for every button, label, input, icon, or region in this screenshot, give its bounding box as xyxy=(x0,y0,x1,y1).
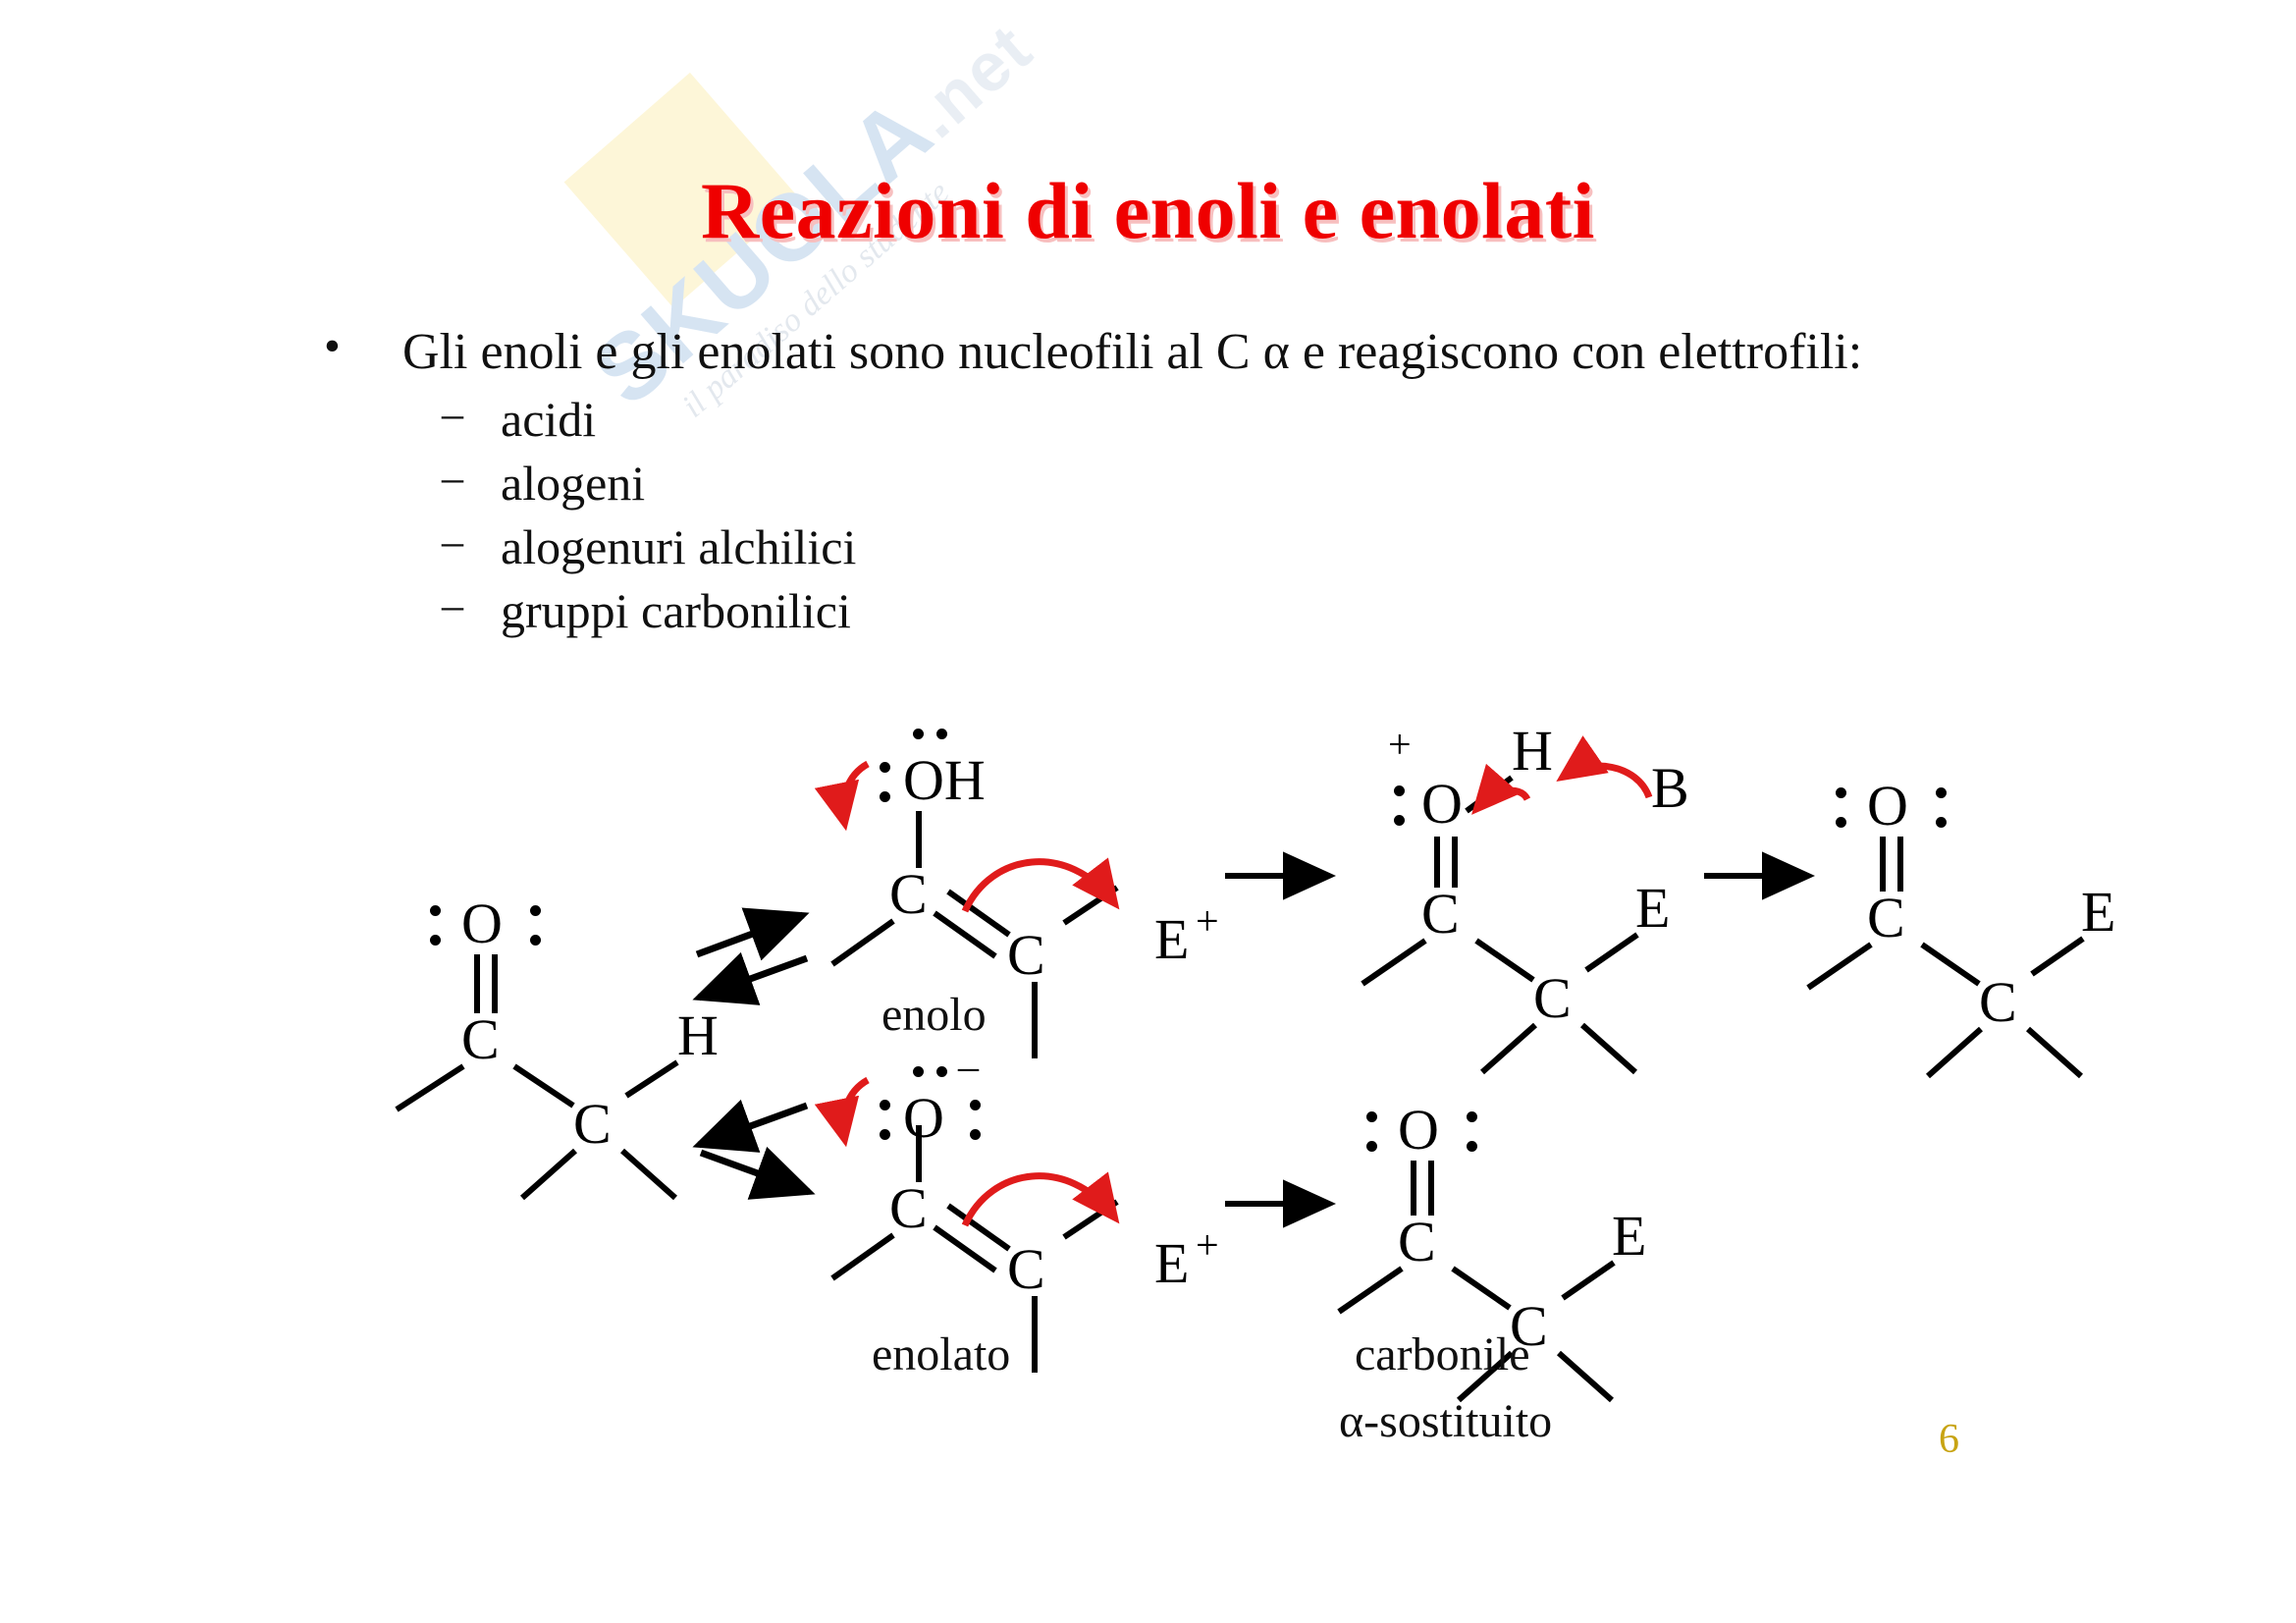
ketone-lone-pair-dot xyxy=(430,935,441,946)
product-bottom-lone-pair-dot xyxy=(1467,1141,1477,1152)
product-bottom-oxygen-atom: O xyxy=(1398,1102,1439,1159)
ketone-lone-pair-dot xyxy=(530,935,541,946)
enol-electrophile-label: E xyxy=(1154,911,1189,968)
product-top-lone-pair-dot xyxy=(1836,817,1846,828)
oxocarbenium-lone-pair-dot xyxy=(1394,785,1405,796)
oxocarbenium-electrophile-atom: E xyxy=(1635,880,1670,937)
enol-carbon-1-atom: C xyxy=(889,866,928,923)
enol-lone-pair-dot xyxy=(913,729,924,739)
product-bottom-lone-pair-dot xyxy=(1467,1111,1477,1122)
enol-lone-pair-dot xyxy=(936,729,947,739)
oxocarbenium-lone-pair-dot xyxy=(1394,815,1405,826)
product-top-bonds xyxy=(1808,837,2083,1076)
oxocarbenium-carbonyl-carbon-atom: C xyxy=(1421,886,1460,943)
equilibrium-arrows-top xyxy=(697,915,807,998)
enolate-lone-pair-dot xyxy=(936,1066,947,1077)
enolate-carbon-1-atom: C xyxy=(889,1180,928,1237)
ketone-bonds xyxy=(397,954,677,1198)
enol-electrophile-charge: + xyxy=(1196,901,1219,943)
enolate-negative-charge: – xyxy=(958,1047,979,1088)
product-top-oxygen-atom: O xyxy=(1867,778,1908,835)
enolate-lone-pair-dot xyxy=(880,1129,890,1140)
ketone-hydrogen-atom: H xyxy=(677,1007,719,1064)
enol-lone-pair-dot xyxy=(880,791,890,802)
oxocarbenium-oxygen-atom: O xyxy=(1421,776,1463,833)
enol-hydroxyl-group: OH xyxy=(903,752,986,809)
product-bottom-lone-pair-dot xyxy=(1366,1111,1377,1122)
enolate-lone-pair-dot xyxy=(913,1066,924,1077)
ketone-lone-pair-dot xyxy=(430,905,441,916)
ketone-carbonyl-carbon-atom: C xyxy=(461,1011,500,1068)
reaction-scheme-vectors xyxy=(0,0,2296,1623)
product-top-carbonyl-carbon-atom: C xyxy=(1867,890,1905,947)
oxocarbenium-hydrogen-atom: H xyxy=(1512,723,1553,780)
enolate-carbon-2-atom: C xyxy=(1007,1241,1045,1298)
enolate-lone-pair-dot xyxy=(970,1100,981,1110)
enolate-oxygen-atom: O xyxy=(903,1090,944,1147)
slide-canvas: SKUOLA.net il paradiso dello studente Re… xyxy=(0,0,2296,1623)
enolate-caption: enolato xyxy=(872,1327,1010,1381)
product-bottom-lone-pair-dot xyxy=(1366,1141,1377,1152)
product-bottom-caption-line2: α-sostituito xyxy=(1339,1394,1552,1448)
product-top-lone-pair-dot xyxy=(1836,787,1846,798)
enolate-lone-pair-dot xyxy=(880,1100,890,1110)
product-bottom-caption-line1: carbonile xyxy=(1355,1327,1530,1381)
product-top-lone-pair-dot xyxy=(1936,817,1947,828)
product-top-alpha-carbon-atom: C xyxy=(1979,974,2017,1031)
ketone-lone-pair-dot xyxy=(530,905,541,916)
oxocarbenium-curly-arrows xyxy=(1478,766,1649,807)
page-number: 6 xyxy=(1939,1416,1959,1463)
ketone-oxygen-atom: O xyxy=(461,895,503,952)
product-bottom-carbonyl-carbon-atom: C xyxy=(1398,1214,1436,1271)
enolate-lone-pair-dot xyxy=(970,1129,981,1140)
enol-lone-pair-dot xyxy=(880,762,890,773)
product-bottom-electrophile-atom: E xyxy=(1612,1208,1646,1265)
oxocarbenium-positive-charge: + xyxy=(1388,725,1412,766)
base-label: B xyxy=(1651,760,1689,817)
reaction-scheme: O C C H OH C C E + enolo + O H B C C E O xyxy=(0,0,2296,1623)
enolate-electrophile-charge: + xyxy=(1196,1225,1219,1267)
product-top-lone-pair-dot xyxy=(1936,787,1947,798)
equilibrium-arrows-bottom xyxy=(699,1106,809,1192)
enolate-electrophile-label: E xyxy=(1154,1235,1189,1292)
ketone-alpha-carbon-atom: C xyxy=(573,1096,612,1153)
enol-caption: enolo xyxy=(881,988,987,1042)
oxocarbenium-alpha-carbon-atom: C xyxy=(1533,970,1572,1027)
product-top-electrophile-atom: E xyxy=(2081,884,2115,941)
enol-carbon-2-atom: C xyxy=(1007,927,1045,984)
